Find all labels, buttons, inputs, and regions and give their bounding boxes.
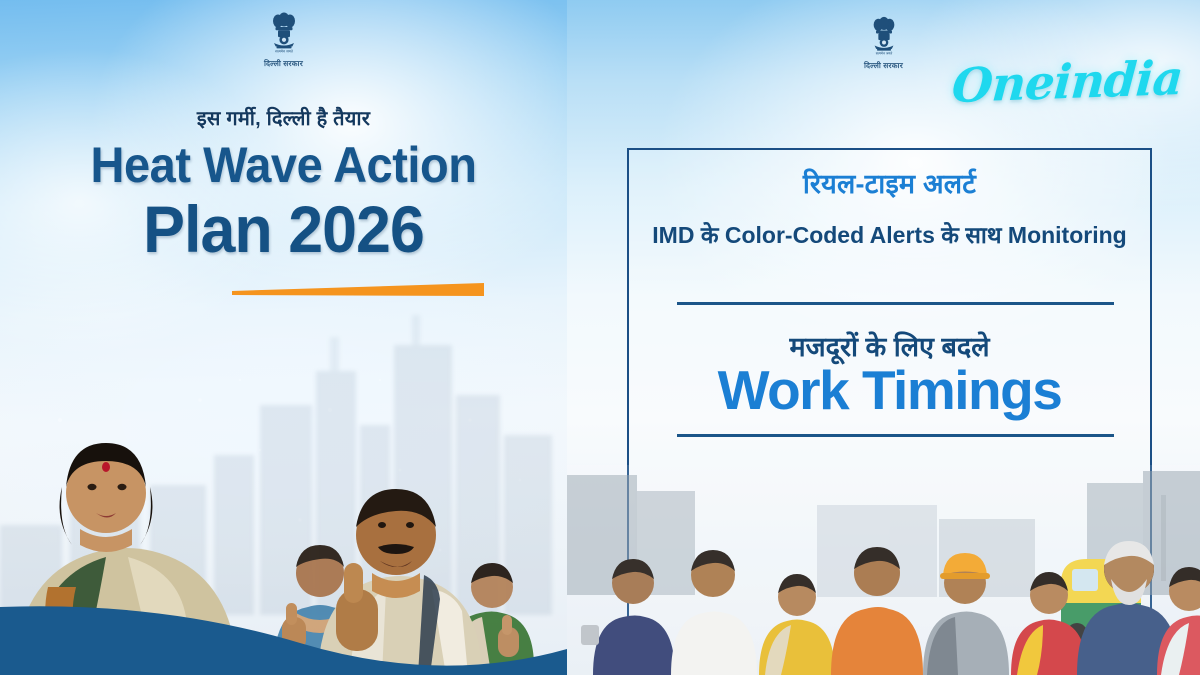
- emblem-caption-right: दिल्ली सरकार: [864, 61, 903, 71]
- india-state-emblem-icon: सत्यमेव जयते: [868, 16, 900, 60]
- orange-underline-accent: [232, 283, 484, 297]
- divider-line-2: [677, 434, 1114, 437]
- bindi: [102, 462, 110, 472]
- oneindia-watermark: Oneindia: [950, 51, 1184, 114]
- worktimings-highlight: Work Timings: [627, 362, 1152, 420]
- foreground-man-portrait: [318, 489, 482, 675]
- left-headline-line2: Plan 2026: [14, 196, 553, 262]
- left-people-imagery: [0, 375, 567, 675]
- alert-heading: रियल-टाइम अलर्ट: [627, 164, 1152, 201]
- right-workers-imagery: [567, 465, 1200, 675]
- left-headline-line1: Heat Wave Action: [17, 140, 550, 190]
- alert-subheading: IMD के Color-Coded Alerts के साथ Monitor…: [627, 220, 1152, 251]
- divider-line-1: [677, 302, 1114, 305]
- svg-text:सत्यमेव जयते: सत्यमेव जयते: [275, 49, 294, 54]
- india-state-emblem-icon: सत्यमेव जयते: [267, 12, 301, 58]
- left-poster-panel: सत्यमेव जयते दिल्ली सरकार इस गर्मी, दिल्…: [0, 0, 567, 675]
- poster-canvas: सत्यमेव जयते दिल्ली सरकार इस गर्मी, दिल्…: [0, 0, 1200, 675]
- delhi-government-emblem: सत्यमेव जयते दिल्ली सरकार: [0, 12, 567, 69]
- emblem-caption: दिल्ली सरकार: [264, 59, 303, 69]
- left-tagline: इस गर्मी, दिल्ली है तैयार: [0, 104, 567, 131]
- svg-text:सत्यमेव जयते: सत्यमेव जयते: [875, 51, 892, 56]
